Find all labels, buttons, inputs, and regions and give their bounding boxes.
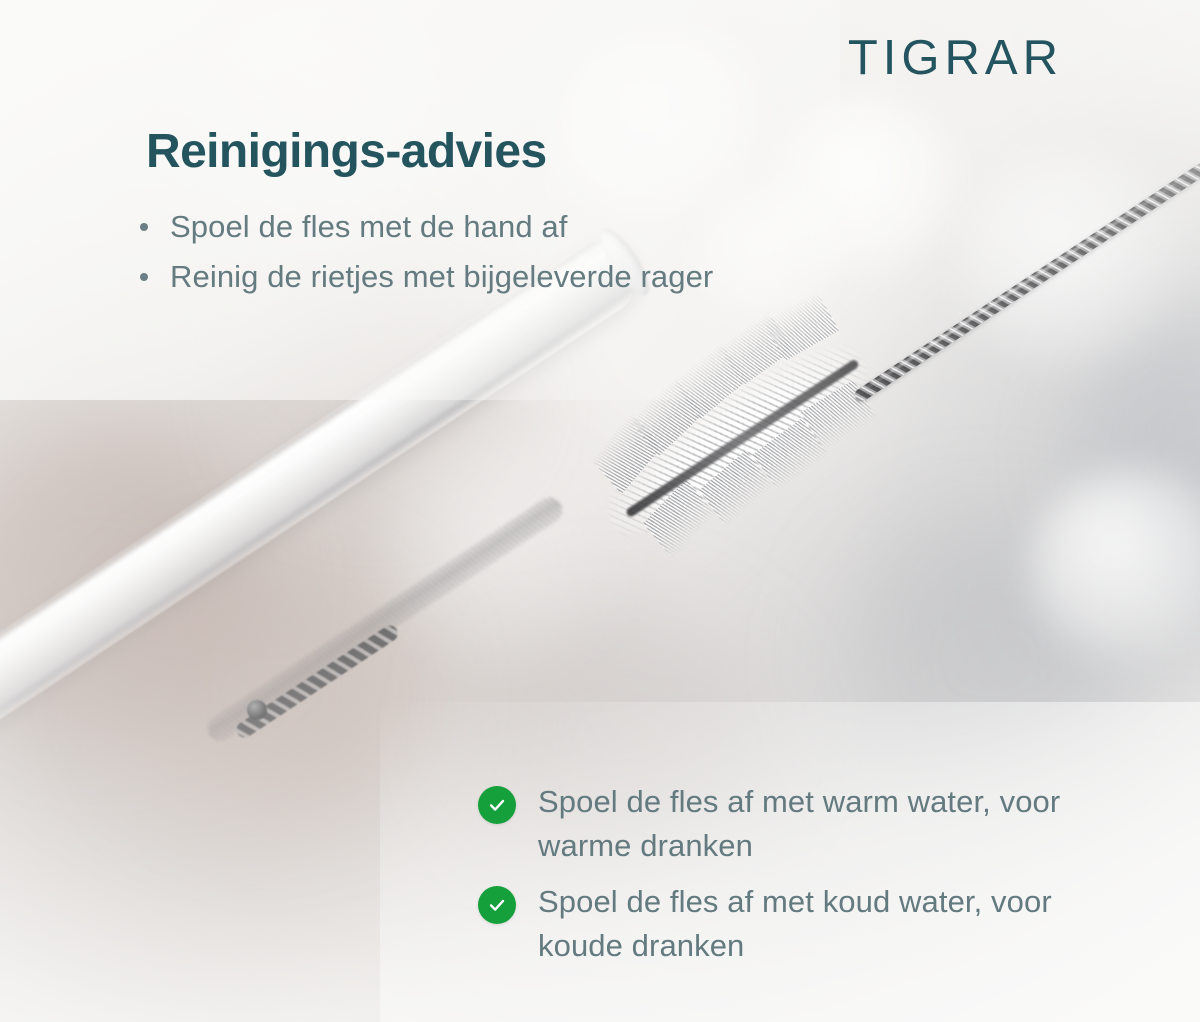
list-item: Spoel de fles af met koud water, voor ko… <box>478 880 1118 968</box>
list-item: Reinig de rietjes met bijgeleverde rager <box>134 256 754 298</box>
page-title: Reinigings-advies <box>146 126 547 179</box>
list-item: Spoel de fles af met warm water, voor wa… <box>478 780 1118 868</box>
list-item: Spoel de fles met de hand af <box>134 206 754 248</box>
product-care-poster: TIGRAR Reinigings-advies Spoel de fles m… <box>0 0 1200 1022</box>
list-item-label: Spoel de fles af met koud water, voor ko… <box>538 880 1118 968</box>
bullet-dot-icon <box>140 223 148 231</box>
cleaning-instructions-list: Spoel de fles met de hand af Reinig de r… <box>134 206 754 306</box>
brand-logo: TIGRAR <box>848 34 1063 83</box>
poster-content: TIGRAR Reinigings-advies Spoel de fles m… <box>0 0 1200 1022</box>
list-item-label: Reinig de rietjes met bijgeleverde rager <box>170 256 713 298</box>
list-item-label: Spoel de fles af met warm water, voor wa… <box>538 780 1118 868</box>
bullet-dot-icon <box>140 273 148 281</box>
check-circle-icon <box>478 886 516 924</box>
check-circle-icon <box>478 786 516 824</box>
water-temperature-tips-list: Spoel de fles af met warm water, voor wa… <box>478 780 1118 980</box>
list-item-label: Spoel de fles met de hand af <box>170 206 567 248</box>
